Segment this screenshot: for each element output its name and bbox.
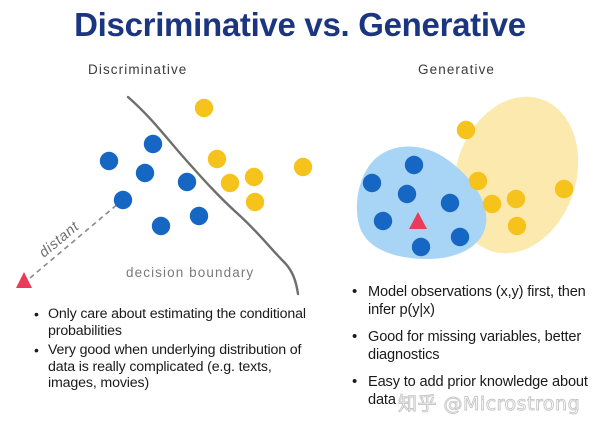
blue-data-point [144, 135, 162, 153]
discriminative-diagram: distant decision boundary [16, 97, 312, 294]
yellow-data-point [483, 195, 501, 213]
yellow-data-point [508, 217, 526, 235]
yellow-data-point [507, 190, 525, 208]
yellow-data-point [457, 121, 475, 139]
yellow-data-point [195, 99, 213, 117]
list-item: • Good for missing variables, better dia… [352, 328, 598, 364]
list-item: • Model observations (x,y) first, then i… [352, 283, 598, 319]
yellow-data-point [246, 193, 264, 211]
yellow-data-point [555, 180, 573, 198]
yellow-data-point [245, 168, 263, 186]
blue-data-point [100, 152, 118, 170]
yellow-data-point [208, 150, 226, 168]
distance-dashed-line [30, 203, 119, 278]
blue-data-point [190, 207, 208, 225]
bullet-text: Very good when underlying distribution o… [48, 342, 324, 392]
bullet-marker-icon: • [34, 342, 48, 359]
query-triangle-icon [409, 212, 427, 229]
yellow-class-blob [434, 80, 598, 269]
blue-data-point [398, 185, 416, 203]
outlier-triangle-icon [16, 272, 32, 288]
list-item: • Only care about estimating the conditi… [34, 306, 324, 339]
blue-data-point [363, 174, 381, 192]
list-item: • Very good when underlying distribution… [34, 342, 324, 392]
yellow-data-point [221, 174, 239, 192]
blue-data-point [441, 194, 459, 212]
blue-data-point [178, 173, 196, 191]
blue-data-point [152, 217, 170, 235]
blue-class-blob [357, 147, 486, 260]
blue-data-point [412, 238, 430, 256]
yellow-data-point [294, 158, 312, 176]
watermark: 知乎 @Microstrong [398, 389, 580, 416]
blue-data-point [114, 191, 132, 209]
bullet-text: Model observations (x,y) first, then inf… [368, 283, 598, 319]
bullet-text: Only care about estimating the condition… [48, 306, 324, 339]
yellow-data-point [469, 172, 487, 190]
blue-data-point [374, 212, 392, 230]
generative-diagram [357, 80, 598, 269]
slide-canvas: Discriminative vs. Generative Discrimina… [0, 0, 600, 423]
bullet-text: Good for missing variables, better diagn… [368, 328, 598, 364]
bullet-marker-icon: • [352, 373, 368, 391]
distant-label: distant [36, 218, 83, 261]
bullet-marker-icon: • [352, 283, 368, 301]
blue-data-point [136, 164, 154, 182]
discriminative-bullet-list: • Only care about estimating the conditi… [34, 306, 324, 395]
page-title: Discriminative vs. Generative [0, 6, 600, 44]
bullet-marker-icon: • [352, 328, 368, 346]
decision-boundary-curve [128, 97, 298, 294]
bullet-marker-icon: • [34, 306, 48, 323]
decision-boundary-label: decision boundary [126, 265, 254, 280]
blue-data-point [451, 228, 469, 246]
blue-data-point [405, 156, 423, 174]
section-heading-discriminative: Discriminative [88, 62, 187, 77]
section-heading-generative: Generative [418, 62, 495, 77]
